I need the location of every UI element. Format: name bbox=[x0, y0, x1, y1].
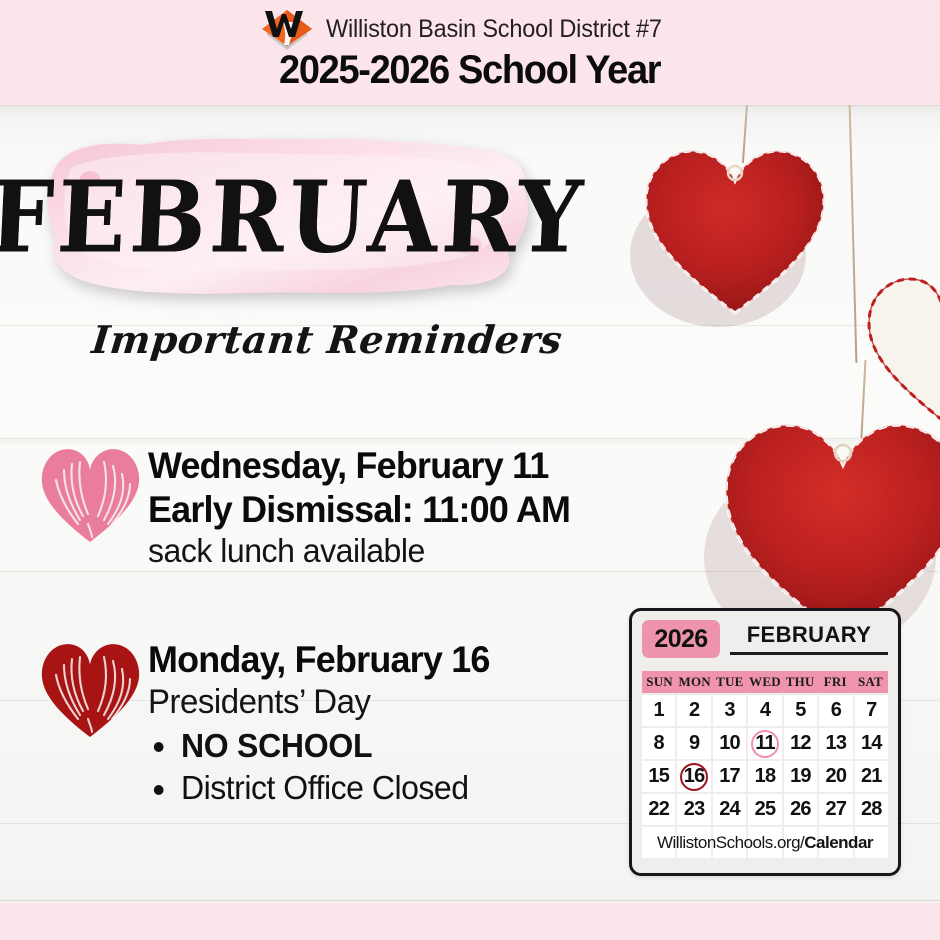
calendar-day[interactable]: 28 bbox=[855, 794, 888, 825]
red-sketch-heart-icon bbox=[34, 633, 146, 745]
reminder-2-subtitle: Presidents’ Day bbox=[148, 682, 490, 723]
weekday-thu: THU bbox=[783, 671, 818, 693]
calendar-day[interactable]: 5 bbox=[784, 695, 817, 726]
calendar-day[interactable]: 22 bbox=[642, 794, 675, 825]
calendar-day[interactable]: 2 bbox=[677, 695, 710, 726]
calendar-weekday-header: SUN MON TUE WED THU FRI SAT bbox=[642, 671, 888, 693]
calendar-day[interactable]: 19 bbox=[784, 761, 817, 792]
calendar-day[interactable]: 1 bbox=[642, 695, 675, 726]
reminder-block-1: Wednesday, February 11 Early Dismissal: … bbox=[148, 444, 583, 571]
red-circle-highlight bbox=[680, 763, 708, 791]
header-title-row: Williston Basin School District #7 bbox=[256, 8, 683, 50]
calendar-day[interactable]: 27 bbox=[819, 794, 852, 825]
reminder-2-line-1: Monday, February 16 bbox=[148, 638, 490, 682]
calendar-day[interactable]: 18 bbox=[748, 761, 781, 792]
weekday-fri: FRI bbox=[818, 671, 853, 693]
calendar-day[interactable]: 25 bbox=[748, 794, 781, 825]
weekday-mon: MON bbox=[677, 671, 712, 693]
red-felt-heart-small-icon bbox=[640, 135, 830, 320]
calendar-day-highlighted-16[interactable]: 16 bbox=[677, 761, 710, 792]
reminder-2-bullet-2: District Office Closed bbox=[148, 767, 490, 809]
february-title-block: FEBRUARY bbox=[38, 127, 538, 307]
calendar-day[interactable]: 23 bbox=[677, 794, 710, 825]
district-name: Williston Basin School District #7 bbox=[326, 15, 662, 44]
calendar-day[interactable]: 8 bbox=[642, 728, 675, 759]
february-calendar-card[interactable]: 2026 FEBRUARY SUN MON TUE WED THU FRI SA… bbox=[629, 608, 901, 876]
weekday-sat: SAT bbox=[853, 671, 888, 693]
calendar-year-badge: 2026 bbox=[642, 620, 720, 658]
calendar-url-bold: Calendar bbox=[804, 833, 873, 853]
calendar-header: 2026 FEBRUARY bbox=[642, 620, 888, 666]
calendar-week-row: 1 2 3 4 5 6 7 bbox=[642, 695, 888, 726]
reminder-block-2: Monday, February 16 Presidents’ Day NO S… bbox=[148, 638, 500, 810]
pink-sketch-heart-icon bbox=[34, 438, 146, 550]
calendar-day[interactable]: 15 bbox=[642, 761, 675, 792]
calendar-footer-row: WillistonSchools.org/Calendar bbox=[642, 827, 888, 858]
reminder-1-line-1: Wednesday, February 11 bbox=[148, 444, 570, 488]
calendar-day[interactable]: 10 bbox=[713, 728, 746, 759]
important-reminders-subtitle: Important Reminders bbox=[90, 317, 495, 362]
calendar-day[interactable]: 14 bbox=[855, 728, 888, 759]
reminder-1-line-3: sack lunch available bbox=[148, 531, 570, 571]
calendar-week-row: 15 16 17 18 19 20 21 bbox=[642, 761, 888, 792]
plank-seam bbox=[0, 900, 940, 901]
calendar-month-rule bbox=[730, 652, 888, 655]
calendar-url-link[interactable]: WillistonSchools.org/Calendar bbox=[642, 827, 888, 858]
weekday-sun: SUN bbox=[642, 671, 677, 693]
white-felt-heart-icon bbox=[866, 265, 940, 425]
calendar-day[interactable]: 9 bbox=[677, 728, 710, 759]
calendar-day[interactable]: 7 bbox=[855, 695, 888, 726]
pink-circle-highlight bbox=[751, 730, 779, 758]
calendar-month-label: FEBRUARY bbox=[747, 623, 872, 647]
poster-canvas: Williston Basin School District #7 2025-… bbox=[0, 0, 940, 940]
poster-header: Williston Basin School District #7 2025-… bbox=[0, 0, 940, 105]
calendar-day-highlighted-11[interactable]: 11 bbox=[748, 728, 781, 759]
calendar-week-row: 8 9 10 11 12 13 14 bbox=[642, 728, 888, 759]
calendar-url-plain: WillistonSchools.org/ bbox=[657, 833, 804, 853]
calendar-day[interactable]: 12 bbox=[784, 728, 817, 759]
reminder-2-bullet-1: NO SCHOOL bbox=[148, 725, 490, 767]
wbsd-diamond-logo-icon bbox=[256, 8, 318, 50]
calendar-day[interactable]: 13 bbox=[819, 728, 852, 759]
calendar-day[interactable]: 17 bbox=[713, 761, 746, 792]
calendar-day[interactable]: 6 bbox=[819, 695, 852, 726]
calendar-day[interactable]: 21 bbox=[855, 761, 888, 792]
school-year-title: 2025-2026 School Year bbox=[279, 48, 660, 93]
weekday-tue: TUE bbox=[712, 671, 747, 693]
calendar-day[interactable]: 24 bbox=[713, 794, 746, 825]
calendar-day[interactable]: 4 bbox=[748, 695, 781, 726]
calendar-day[interactable]: 20 bbox=[819, 761, 852, 792]
reminder-2-bullet-list: NO SCHOOL District Office Closed bbox=[148, 725, 500, 809]
calendar-day[interactable]: 26 bbox=[784, 794, 817, 825]
weekday-wed: WED bbox=[747, 671, 782, 693]
february-heading: FEBRUARY bbox=[28, 116, 548, 318]
calendar-day[interactable]: 3 bbox=[713, 695, 746, 726]
reminder-1-line-2: Early Dismissal: 11:00 AM bbox=[148, 488, 570, 532]
calendar-month-wrap: FEBRUARY bbox=[730, 620, 888, 655]
calendar-week-row: 22 23 24 25 26 27 28 bbox=[642, 794, 888, 825]
plank-shadow bbox=[0, 106, 940, 115]
